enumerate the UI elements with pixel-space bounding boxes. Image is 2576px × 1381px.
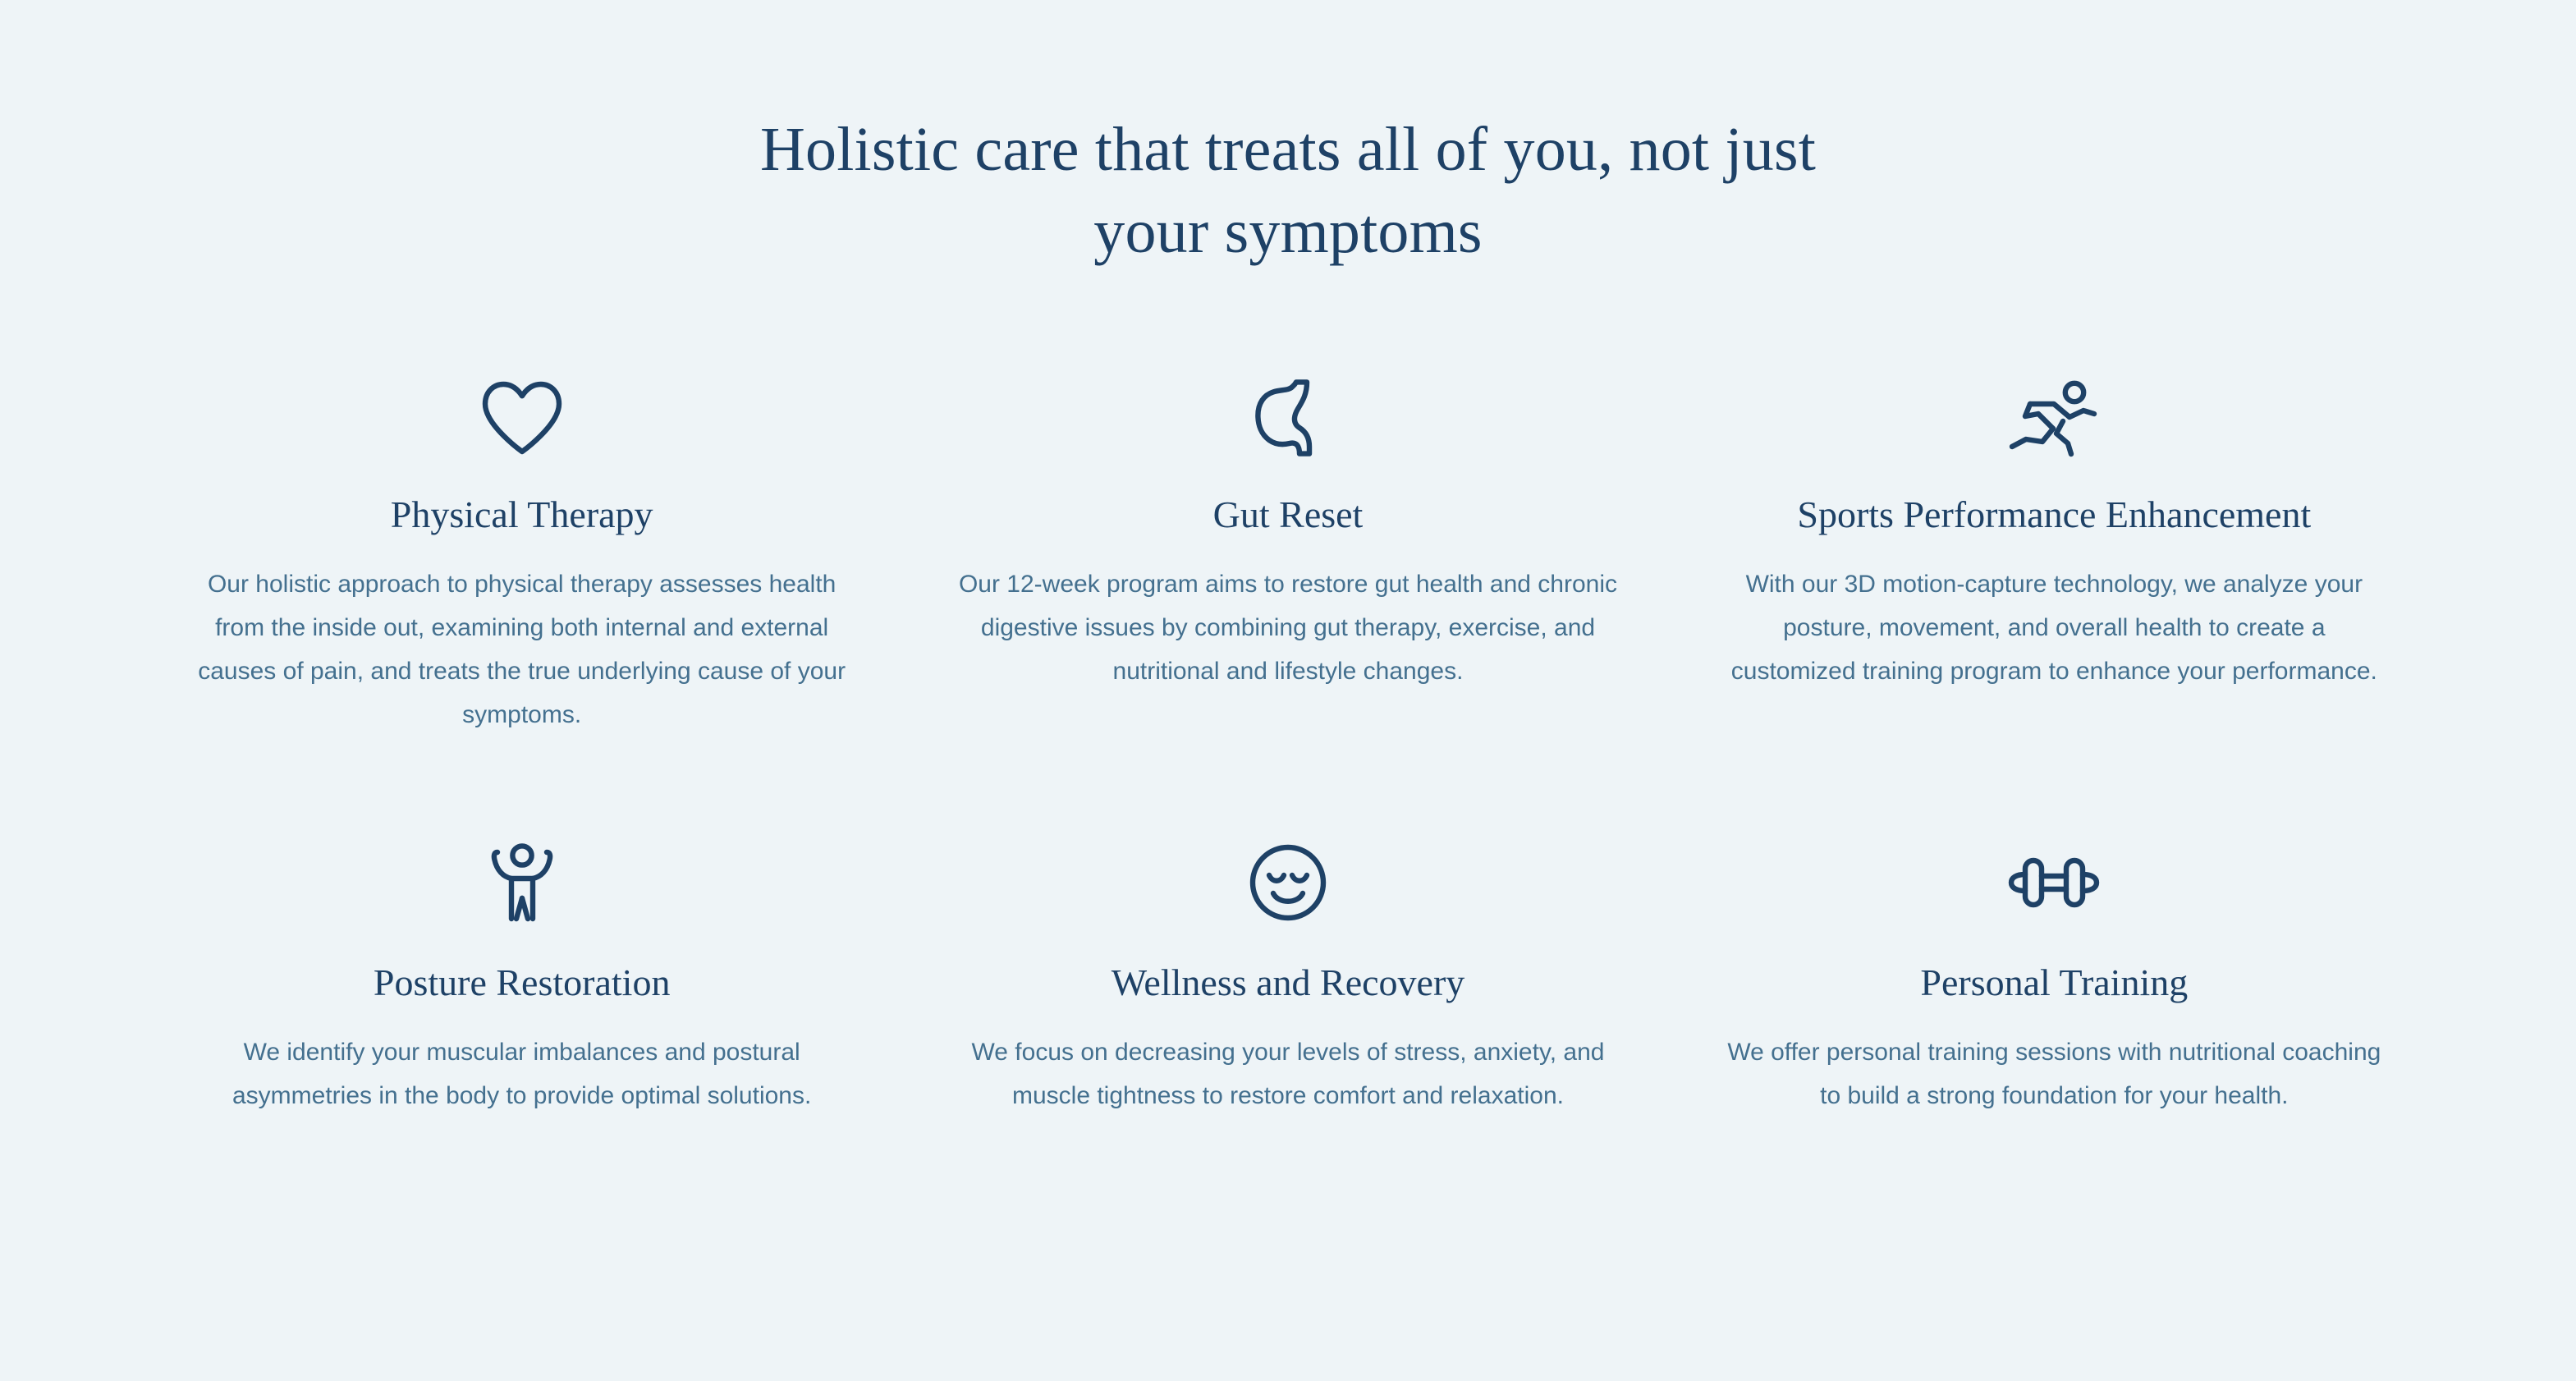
dumbbell-icon bbox=[2006, 843, 2102, 922]
services-grid: Physical Therapy Our holistic approach t… bbox=[139, 379, 2437, 1117]
service-description: We offer personal training sessions with… bbox=[1726, 1030, 2382, 1117]
service-description: Our holistic approach to physical therap… bbox=[188, 562, 855, 736]
person-arms-raised-icon bbox=[489, 843, 555, 922]
heart-icon bbox=[478, 379, 566, 457]
service-title: Gut Reset bbox=[1213, 492, 1364, 538]
service-description: Our 12-week program aims to restore gut … bbox=[954, 562, 1621, 693]
service-card-wellness-recovery: Wellness and Recovery We focus on decrea… bbox=[905, 843, 1671, 1117]
service-description: With our 3D motion-capture technology, w… bbox=[1721, 562, 2388, 693]
service-card-posture-restoration: Posture Restoration We identify your mus… bbox=[139, 843, 905, 1117]
service-card-sports-performance: Sports Performance Enhancement With our … bbox=[1671, 379, 2437, 736]
service-title: Sports Performance Enhancement bbox=[1797, 492, 2311, 538]
service-card-personal-training: Personal Training We offer personal trai… bbox=[1671, 843, 2437, 1117]
relaxed-face-icon bbox=[1248, 843, 1328, 922]
heading-line-1: Holistic care that treats all of you, no… bbox=[760, 115, 1816, 184]
running-person-icon bbox=[2006, 379, 2102, 457]
page-title: Holistic care that treats all of you, no… bbox=[760, 108, 1816, 273]
heading-line-2: your symptoms bbox=[1093, 197, 1482, 266]
service-title: Wellness and Recovery bbox=[1112, 960, 1465, 1006]
service-card-physical-therapy: Physical Therapy Our holistic approach t… bbox=[139, 379, 905, 736]
stomach-icon bbox=[1253, 379, 1323, 457]
service-card-gut-reset: Gut Reset Our 12-week program aims to re… bbox=[905, 379, 1671, 736]
services-section: Holistic care that treats all of you, no… bbox=[0, 0, 2576, 1381]
service-description: We identify your muscular imbalances and… bbox=[194, 1030, 850, 1117]
service-description: We focus on decreasing your levels of st… bbox=[960, 1030, 1616, 1117]
service-title: Posture Restoration bbox=[374, 960, 671, 1006]
service-title: Personal Training bbox=[1920, 960, 2188, 1006]
service-title: Physical Therapy bbox=[391, 492, 653, 538]
